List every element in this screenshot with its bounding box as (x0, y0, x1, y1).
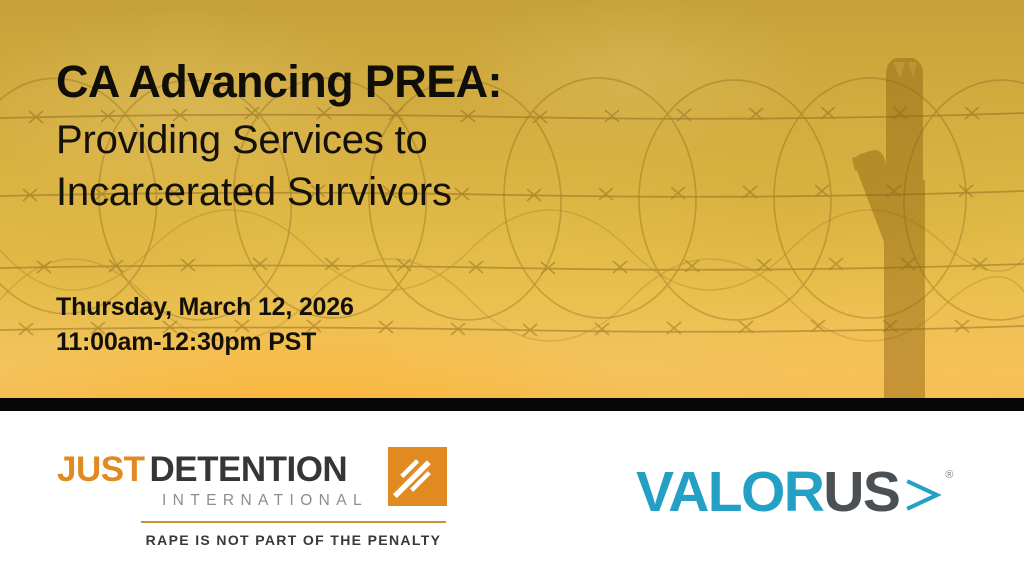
valorus-registered-icon: ® (945, 470, 953, 481)
jdi-tagline: RAPE IS NOT PART OF THE PENALTY (146, 532, 442, 548)
jdi-word-just: JUST (57, 452, 144, 487)
valorus-word-us: US (823, 466, 899, 518)
just-detention-international-logo[interactable]: JUST DETENTION (57, 449, 447, 550)
event-date: Thursday, March 12, 2026 (56, 290, 354, 325)
jdi-tagline-row: RAPE IS NOT PART OF THE PENALTY (141, 532, 446, 550)
jdi-international-row: INTERNATIONAL (141, 492, 389, 510)
jdi-divider-rule (141, 521, 446, 523)
page-subtitle-line-1: Providing Services to (56, 114, 756, 166)
page-subtitle-line-2: Incarcerated Survivors (56, 166, 756, 218)
webinar-promo-graphic: CA Advancing PREA: Providing Services to… (0, 0, 1024, 576)
jdi-word-detention: DETENTION (149, 452, 347, 487)
event-time: 11:00am-12:30pm PST (56, 325, 354, 360)
valorus-word-valor: VALOR (636, 466, 823, 518)
jdi-wordmark-row: JUST DETENTION (57, 449, 447, 489)
page-title: CA Advancing PREA: (56, 56, 756, 108)
hero-text-block: CA Advancing PREA: Providing Services to… (56, 56, 756, 218)
valorus-chevron-icon (904, 476, 944, 514)
divider-bar (0, 398, 1024, 411)
page-subtitle: Providing Services to Incarcerated Survi… (56, 114, 756, 218)
logo-band: JUST DETENTION (0, 411, 1024, 576)
event-datetime-block: Thursday, March 12, 2026 11:00am-12:30pm… (56, 290, 354, 359)
hero-banner: CA Advancing PREA: Providing Services to… (0, 0, 1024, 398)
valorus-logo[interactable]: VALOR US ® (636, 466, 953, 518)
jdi-arrow-icon (388, 447, 447, 506)
jdi-word-international: INTERNATIONAL (162, 492, 368, 509)
